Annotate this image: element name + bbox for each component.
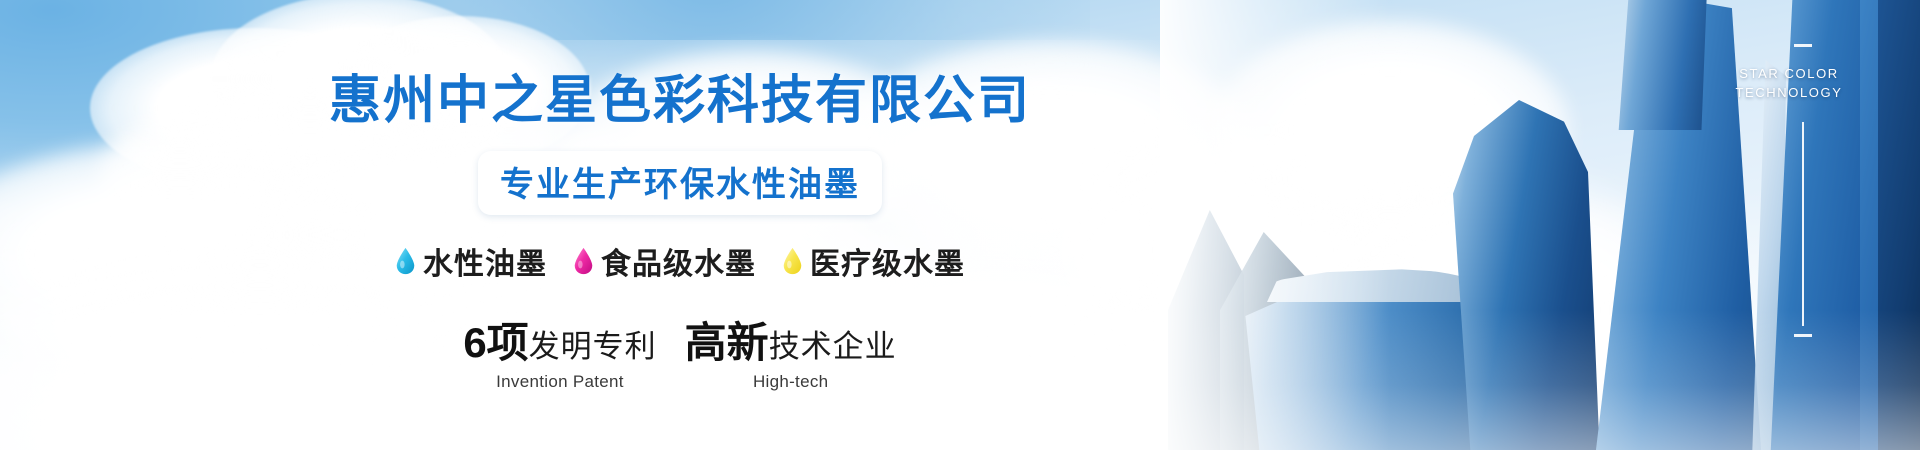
building-left-fade [1160,0,1390,450]
building-right-tower-1-shaft [1615,0,1707,130]
brand-mark-line-2: TECHNOLOGY [1714,83,1864,102]
water-drop-icon [573,247,594,275]
credential-english: High-tech [753,372,828,392]
feature-item: 医疗级水墨 [782,239,965,283]
company-hero-banner: Star Color STAR COLOR TECHNOLOGY 惠州中之星色彩… [0,0,1920,450]
credential-main: 6项 发明专利 [463,309,656,370]
subtitle-pill: 专业生产环保水性油墨 [478,151,882,215]
credential-rest: 发明专利 [529,321,657,366]
feature-list: 水性油墨 食品级水墨 [395,239,965,283]
water-drop-icon [395,247,416,275]
credential-item: 高新 技术企业 High-tech [685,309,897,392]
brand-mark-line-1: STAR COLOR [1714,64,1864,83]
brand-vertical-rule [1802,122,1804,326]
credential-highlight: 6项 [463,309,528,370]
feature-item: 水性油墨 [395,239,547,283]
feature-label: 医疗级水墨 [810,239,965,283]
water-drop-icon [782,247,803,275]
brand-tick-top-decoration [1794,44,1812,47]
hero-content: 惠州中之星色彩科技有限公司 专业生产环保水性油墨 水性油 [280,0,1080,450]
company-name-headline: 惠州中之星色彩科技有限公司 [329,58,1031,133]
brand-tick-bottom-decoration [1794,334,1812,337]
credential-highlight: 高新 [685,309,769,370]
brand-mark: STAR COLOR TECHNOLOGY [1714,64,1864,102]
credential-rest: 技术企业 [769,321,897,366]
credential-item: 6项 发明专利 Invention Patent [463,309,656,392]
subtitle-text: 专业生产环保水性油墨 [500,166,860,204]
feature-label: 水性油墨 [423,239,547,283]
credential-list: 6项 发明专利 Invention Patent 高新 技术企业 High-te… [463,309,896,392]
feature-label: 食品级水墨 [601,239,756,283]
credential-english: Invention Patent [496,372,624,392]
feature-item: 食品级水墨 [573,239,756,283]
credential-main: 高新 技术企业 [685,309,897,370]
